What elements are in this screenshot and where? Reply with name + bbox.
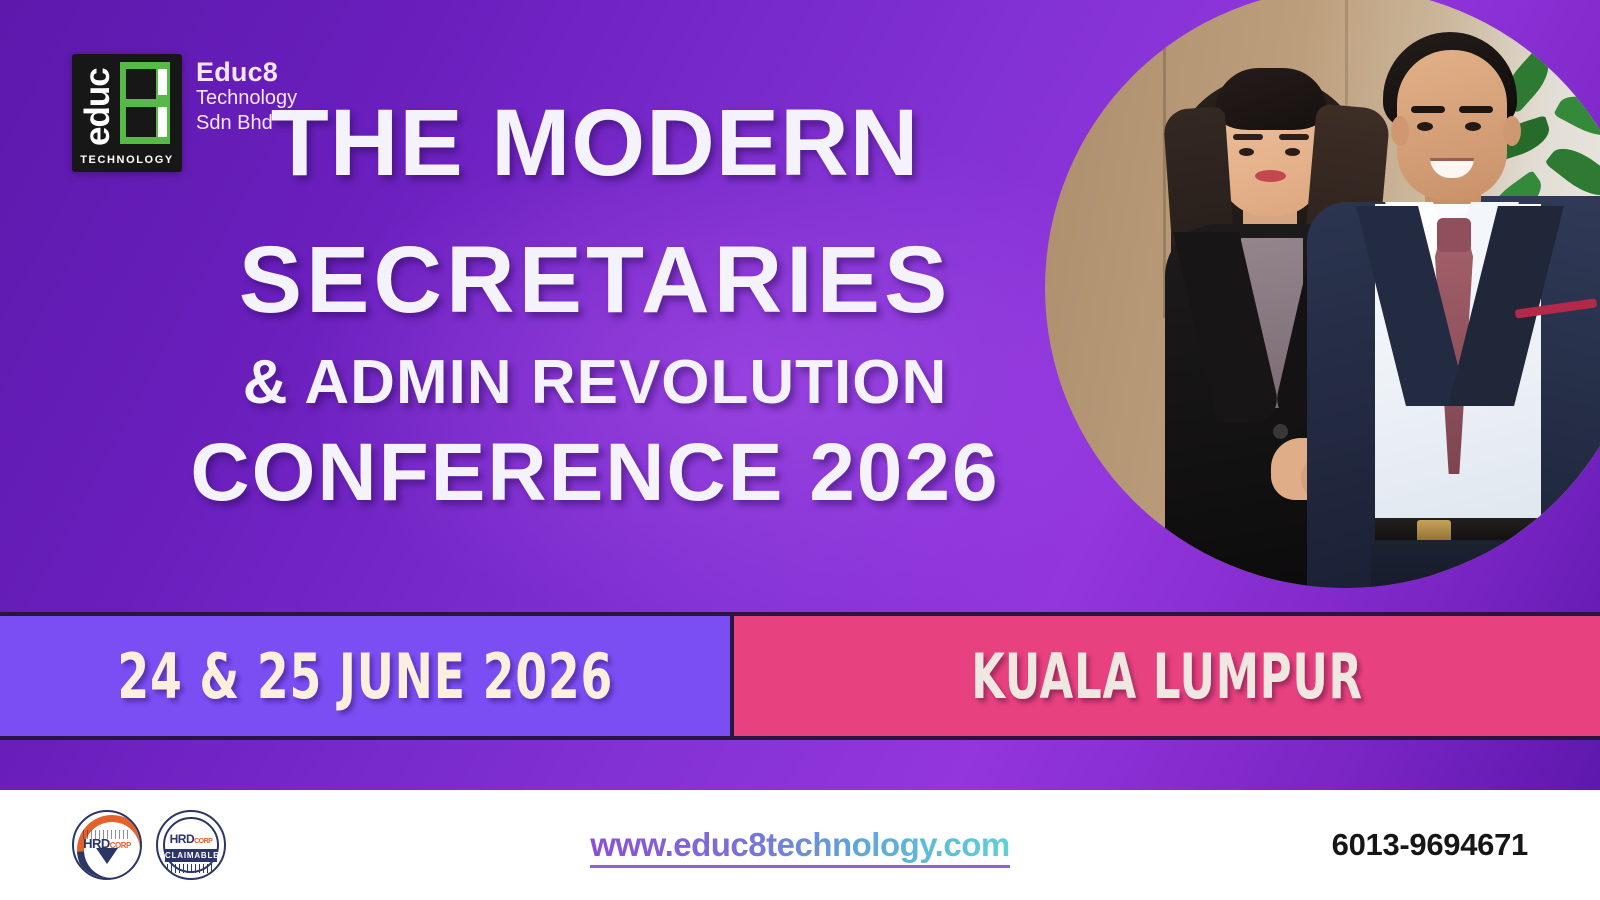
logo-eight-glyph-icon	[120, 62, 170, 144]
brand-name: Educ8	[196, 58, 297, 86]
man-ear-right	[1503, 116, 1521, 146]
man-eye-right	[1465, 122, 1481, 131]
presenter-woman-fringe	[1215, 68, 1327, 130]
woman-brow-left	[1233, 134, 1263, 140]
man-brow-right	[1459, 106, 1493, 113]
title-line-4: CONFERENCE 2026	[0, 432, 1190, 514]
brand-logo: educ TECHNOLOGY Educ8 Technology Sdn Bhd	[72, 54, 297, 172]
woman-lips	[1255, 170, 1286, 182]
conference-promo-banner: educ TECHNOLOGY Educ8 Technology Sdn Bhd…	[0, 0, 1600, 900]
woman-brow-right	[1279, 134, 1309, 140]
title-line-3: & ADMIN REVOLUTION	[0, 352, 1190, 414]
contact-phone: 6013-9694671	[1332, 827, 1528, 863]
man-brow-left	[1411, 106, 1445, 113]
event-location-bar: KUALA LUMPUR	[734, 616, 1600, 736]
man-trousers	[1371, 540, 1549, 588]
man-tie-knot	[1437, 218, 1471, 252]
logo-technology-caption: TECHNOLOGY	[72, 154, 182, 166]
man-belt-buckle	[1417, 520, 1451, 542]
brand-line2: Technology	[196, 86, 297, 111]
event-date-bar: 24 & 25 JUNE 2026	[0, 616, 734, 736]
woman-eye-right	[1285, 148, 1300, 156]
brand-name-block: Educ8 Technology Sdn Bhd	[196, 54, 297, 136]
event-date-text: 24 & 25 JUNE 2026	[117, 640, 613, 713]
event-details-bars: 24 & 25 JUNE 2026 KUALA LUMPUR	[0, 612, 1600, 740]
woman-blazer-button	[1273, 424, 1288, 439]
logo-educ-text: educ	[76, 60, 120, 146]
brand-line3: Sdn Bhd	[196, 111, 297, 136]
woman-eye-left	[1239, 148, 1254, 156]
footer-bar: HRDCORP HRDCORP CLAIMABLE www.educ8techn…	[0, 790, 1600, 900]
title-line-2: SECRETARIES	[0, 233, 1190, 328]
man-eye-left	[1417, 122, 1433, 131]
website-link[interactable]: www.educ8technology.com	[590, 826, 1009, 868]
event-location-text: KUALA LUMPUR	[971, 640, 1363, 713]
man-ear-left	[1391, 116, 1409, 146]
educ8-logo-mark: educ TECHNOLOGY	[72, 54, 182, 172]
